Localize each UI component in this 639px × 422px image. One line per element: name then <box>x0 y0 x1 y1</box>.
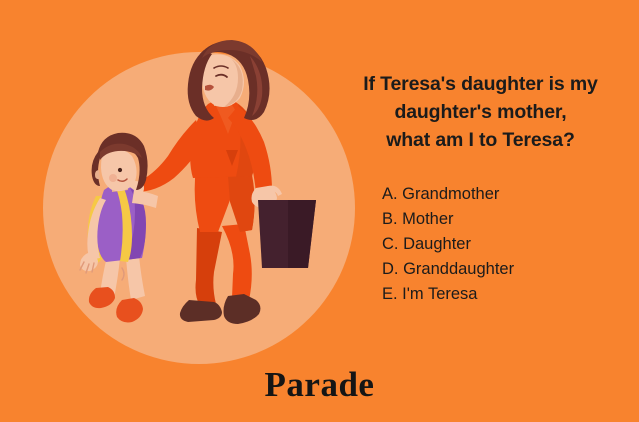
answer-option-a[interactable]: A. Grandmother <box>382 182 639 207</box>
brand-logo: Parade <box>0 365 639 405</box>
answer-option-b[interactable]: B. Mother <box>382 207 639 232</box>
woman-and-girl-illustration <box>0 0 370 422</box>
answer-option-d[interactable]: D. Granddaughter <box>382 257 639 282</box>
text-panel: If Teresa's daughter is my daughter's mo… <box>322 0 639 422</box>
answer-option-e[interactable]: E. I'm Teresa <box>382 282 639 307</box>
question-line-2: daughter's mother, <box>322 98 639 126</box>
answer-options-list: A. Grandmother B. Mother C. Daughter D. … <box>382 182 639 307</box>
girl-figure <box>80 133 158 323</box>
question-line-1: If Teresa's daughter is my <box>322 70 639 98</box>
question-heading: If Teresa's daughter is my daughter's mo… <box>322 70 639 154</box>
question-line-3: what am I to Teresa? <box>322 126 639 154</box>
illustration-panel <box>0 0 370 422</box>
answer-option-c[interactable]: C. Daughter <box>382 232 639 257</box>
riddle-card: If Teresa's daughter is my daughter's mo… <box>0 0 639 422</box>
